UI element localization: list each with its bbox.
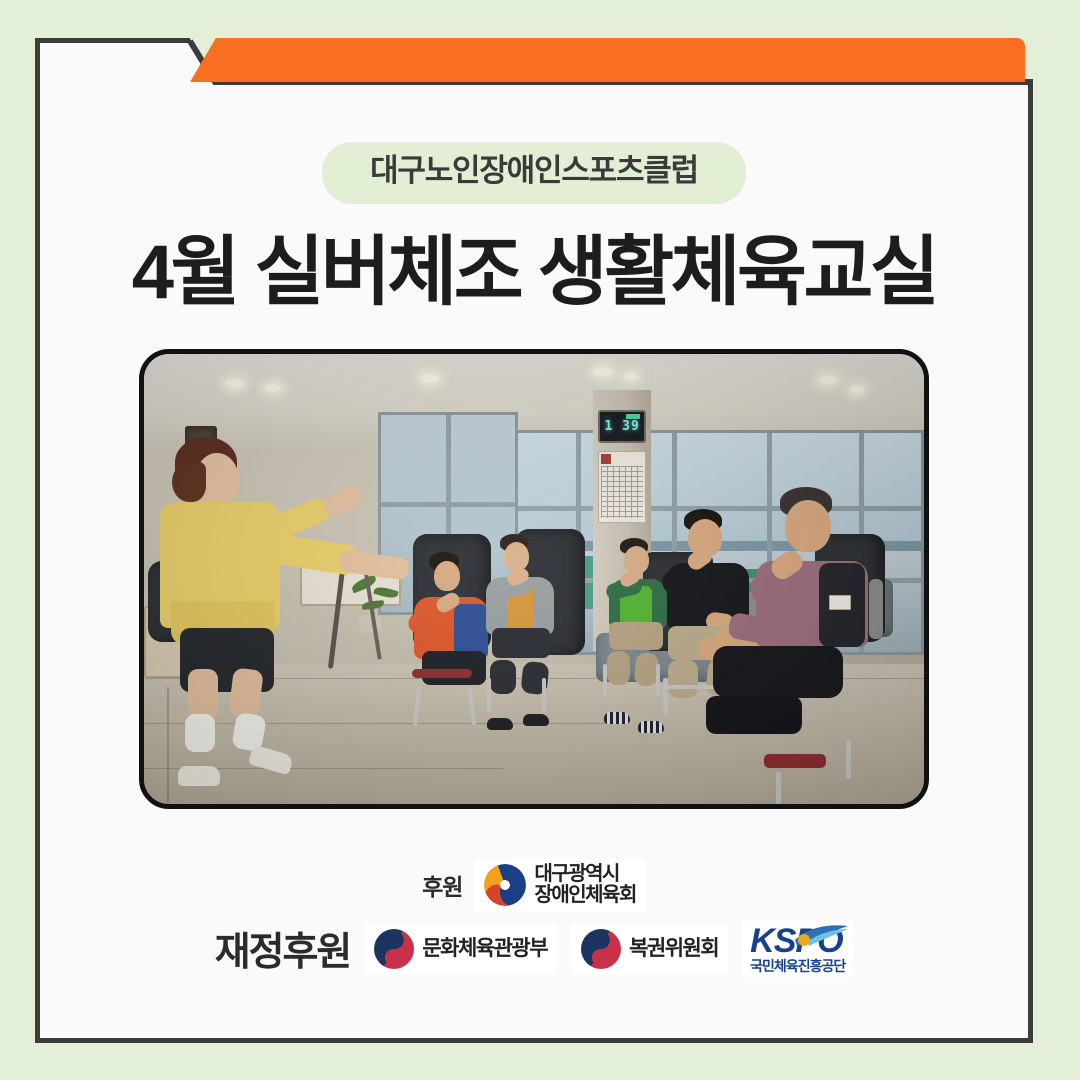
calendar-grid <box>601 466 643 518</box>
logo-mcst-text: 문화체육관광부 <box>422 938 547 961</box>
ceiling-light <box>624 373 638 380</box>
photo-scene: 1 39 <box>144 354 924 804</box>
ceiling-light <box>226 379 244 388</box>
logo-lottery-commission: 복권위원회 <box>571 924 728 974</box>
logo-lottery-text: 복권위원회 <box>629 938 718 961</box>
poster-canvas: 대구노인장애인스포츠클럽 4월 실버체조 생활체육교실 <box>0 0 1080 1080</box>
ceiling-light <box>421 374 439 383</box>
logo-kspo: KSPO 국민체육진흥공단 <box>742 921 853 976</box>
page-title: 4월 실버체조 생활체육교실 <box>132 230 937 315</box>
calendar-header <box>601 454 611 464</box>
clock-digits: 1 39 <box>604 419 639 434</box>
daegu-emblem-icon <box>484 864 526 906</box>
name-tag <box>829 595 851 610</box>
wall-calendar <box>598 451 646 523</box>
kspo-swoosh-icon <box>791 924 849 950</box>
logo-daegu-line2: 장애인체육회 <box>534 884 635 906</box>
digital-clock: 1 39 <box>598 410 646 442</box>
logo-ministry-culture-sports-tourism: 문화체육관광부 <box>364 924 557 974</box>
logo-daegu-disabled-sports-council: 대구광역시 장애인체육회 <box>474 859 645 912</box>
sponsor-row-financial: 재정후원 문화체육관광부 복권위원회 KSPO 국민체육진 <box>35 921 1033 977</box>
logo-daegu-text: 대구광역시 장애인체육회 <box>534 864 635 907</box>
club-name-badge: 대구노인장애인스포츠클럽 <box>322 142 746 204</box>
financial-support-label: 재정후원 <box>215 921 351 977</box>
sponsor-section: 후원 대구광역시 장애인체육회 재정후원 문화체육관광부 복권 <box>35 849 1033 999</box>
floor-seam <box>167 687 169 804</box>
floor-seam <box>144 723 628 724</box>
poster-content: 대구노인장애인스포츠클럽 4월 실버체조 생활체육교실 <box>35 38 1033 1043</box>
sponsor-row-support: 후원 대구광역시 장애인체육회 <box>35 859 1033 912</box>
support-label: 후원 <box>422 868 462 902</box>
kspo-subtext: 국민체육진흥공단 <box>750 959 845 973</box>
logo-daegu-line1: 대구광역시 <box>534 863 619 885</box>
class-photo: 1 39 <box>139 349 929 809</box>
government-emblem-icon <box>581 929 621 969</box>
clock-indicator <box>626 414 640 419</box>
government-emblem-icon <box>374 929 414 969</box>
